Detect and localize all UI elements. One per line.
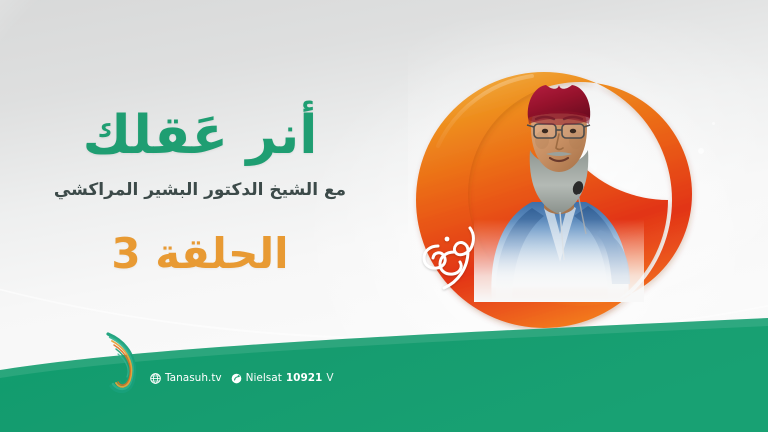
satellite-dish-icon — [231, 373, 242, 384]
leaf-feather-logo-icon — [99, 332, 145, 394]
presenter-portrait — [474, 84, 644, 302]
satellite-frequency: 10921 — [286, 372, 323, 384]
globe-icon — [150, 373, 161, 384]
sparkle-dot — [712, 122, 715, 125]
broadcast-promo-card: أنر عَقلك مع الشيخ الدكتور البشير المراك… — [0, 0, 768, 432]
website-info[interactable]: Tanasuh.tv — [150, 372, 222, 384]
footer-info-bar: Tanasuh.tv Nielsat 10921 V — [150, 372, 334, 384]
website-label: Tanasuh.tv — [165, 372, 222, 384]
presenter-subtitle: مع الشيخ الدكتور البشير المراكشي — [0, 180, 400, 200]
promo-text-block: أنر عَقلك مع الشيخ الدكتور البشير المراك… — [0, 108, 400, 278]
episode-label: الحلقة 3 — [0, 229, 400, 278]
footer-banner: Tanasuh.tv Nielsat 10921 V — [0, 312, 768, 432]
satellite-polarization: V — [326, 372, 333, 384]
satellite-info: Nielsat 10921 V — [231, 372, 334, 384]
crescent-portrait-stage — [402, 66, 702, 334]
satellite-name: Nielsat — [246, 372, 282, 384]
page-title: أنر عَقلك — [0, 108, 400, 164]
decorative-calligraphy — [414, 216, 492, 296]
